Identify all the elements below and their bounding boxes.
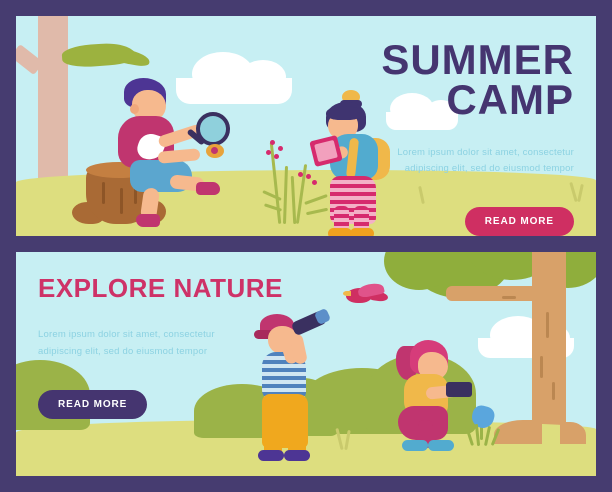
grass-blade [484, 426, 491, 446]
body-line-2: adipiscing elit, sed do eiusmod tempor [405, 163, 574, 174]
phone-icon [446, 382, 472, 397]
grass-blade [465, 426, 474, 446]
shoe [258, 450, 284, 461]
banner-body-text: Lorem ipsum dolor sit amet, consectetur … [38, 327, 328, 360]
tree-trunk [38, 16, 68, 194]
shoe [136, 214, 160, 227]
page-title: SUMMER CAMP [274, 40, 574, 121]
banner-body-text: Lorem ipsum dolor sit amet, consectetur … [274, 145, 574, 178]
body-line-1: Lorem ipsum dolor sit amet, consectetur [38, 329, 215, 340]
banner-summer-camp: SUMMER CAMP Lorem ipsum dolor sit amet, … [16, 16, 596, 236]
bird-icon [346, 284, 388, 308]
ear [130, 104, 139, 114]
shoe [284, 450, 310, 461]
bark-texture [552, 382, 555, 400]
read-more-button[interactable]: READ MORE [465, 207, 574, 236]
berry [266, 150, 271, 155]
shoe [428, 440, 454, 451]
tree-trunk [532, 252, 566, 442]
body-line-1: Lorem ipsum dolor sit amet, consectetur [397, 147, 574, 158]
banner-explore-nature: EXPLORE NATURE Lorem ipsum dolor sit ame… [16, 252, 596, 476]
bark-texture [546, 312, 549, 338]
bark-texture [502, 296, 516, 299]
bluebell-flower [466, 400, 502, 446]
banner-summer-text-block: SUMMER CAMP Lorem ipsum dolor sit amet, … [274, 40, 574, 236]
flower-bell [470, 404, 497, 431]
body-line-2: adipiscing elit, sed do eiusmod tempor [38, 346, 207, 357]
shoe [402, 440, 428, 451]
tree-branch [446, 286, 538, 301]
stump-texture-line [102, 182, 105, 204]
grass-blade [491, 428, 501, 446]
arm [158, 148, 201, 164]
title-line-2: CAMP [446, 76, 574, 123]
shoe [196, 182, 220, 195]
bird-beak [343, 291, 351, 296]
character-boy-with-magnifying-glass [108, 78, 228, 228]
banner-explore-text-block: EXPLORE NATURE Lorem ipsum dolor sit ame… [38, 276, 328, 419]
butterfly-detail [211, 147, 218, 154]
banner-set-canvas: SUMMER CAMP Lorem ipsum dolor sit amet, … [0, 0, 612, 492]
bark-texture [540, 356, 543, 378]
page-title: EXPLORE NATURE [38, 276, 328, 301]
read-more-button[interactable]: READ MORE [38, 390, 147, 419]
